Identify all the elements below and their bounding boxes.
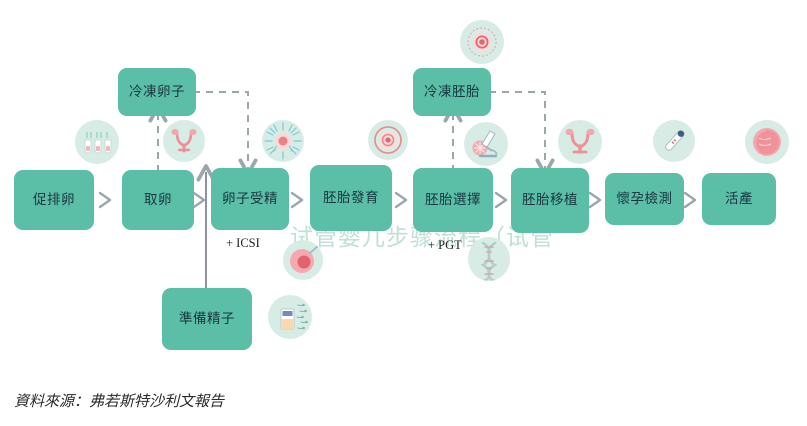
step-node-2[interactable]: 取卵	[122, 170, 194, 230]
branch-label: 冷凍胚胎	[424, 84, 480, 100]
branch-node-freeze-embryo[interactable]: 冷凍胚胎	[413, 68, 491, 116]
vials-icon	[75, 120, 119, 164]
step-node-7[interactable]: 懷孕檢測	[605, 173, 684, 225]
fetus-icon	[745, 120, 789, 164]
step-node-3[interactable]: 卵子受精	[211, 168, 289, 230]
fertilization-icon	[262, 120, 304, 162]
step-label: 取卵	[144, 192, 172, 208]
annotation-pgt: + PGT	[428, 238, 462, 253]
annotation-icsi: + ICSI	[226, 236, 260, 251]
source-note: 資料來源：弗若斯特沙利文報告	[14, 390, 224, 411]
sperm-sample-icon	[268, 295, 312, 339]
step-label: 胚胎移植	[522, 192, 578, 208]
embryo-top-icon	[460, 20, 504, 64]
blastocyst-icon	[283, 240, 323, 280]
step-node-5[interactable]: 胚胎選擇	[413, 168, 493, 232]
dna-icon	[468, 237, 510, 281]
step-label: 胚胎發育	[323, 190, 379, 206]
step-node-8[interactable]: 活產	[702, 173, 776, 225]
pregnancy-test-icon	[653, 120, 695, 162]
flowchart-canvas: 试管婴儿步骤流程（试管	[0, 0, 807, 426]
step-node-1[interactable]: 促排卵	[14, 170, 94, 230]
microscope-icon	[464, 122, 508, 166]
step-node-4[interactable]: 胚胎發育	[310, 165, 392, 231]
step-node-6[interactable]: 胚胎移植	[511, 168, 589, 233]
step-label: 懷孕檢測	[617, 191, 673, 207]
branch-label: 冷凍卵子	[129, 84, 185, 100]
branch-label: 準備精子	[179, 311, 235, 327]
uterus-transfer-icon	[558, 120, 602, 164]
uterus-ovaries-icon	[163, 120, 205, 162]
branch-node-prepare-sperm[interactable]: 準備精子	[162, 288, 252, 350]
embryo-cell-icon	[368, 120, 408, 160]
step-label: 促排卵	[33, 192, 75, 208]
step-label: 胚胎選擇	[425, 192, 481, 208]
step-label: 卵子受精	[222, 191, 278, 207]
step-label: 活產	[725, 191, 753, 207]
branch-node-freeze-eggs[interactable]: 冷凍卵子	[118, 68, 196, 116]
